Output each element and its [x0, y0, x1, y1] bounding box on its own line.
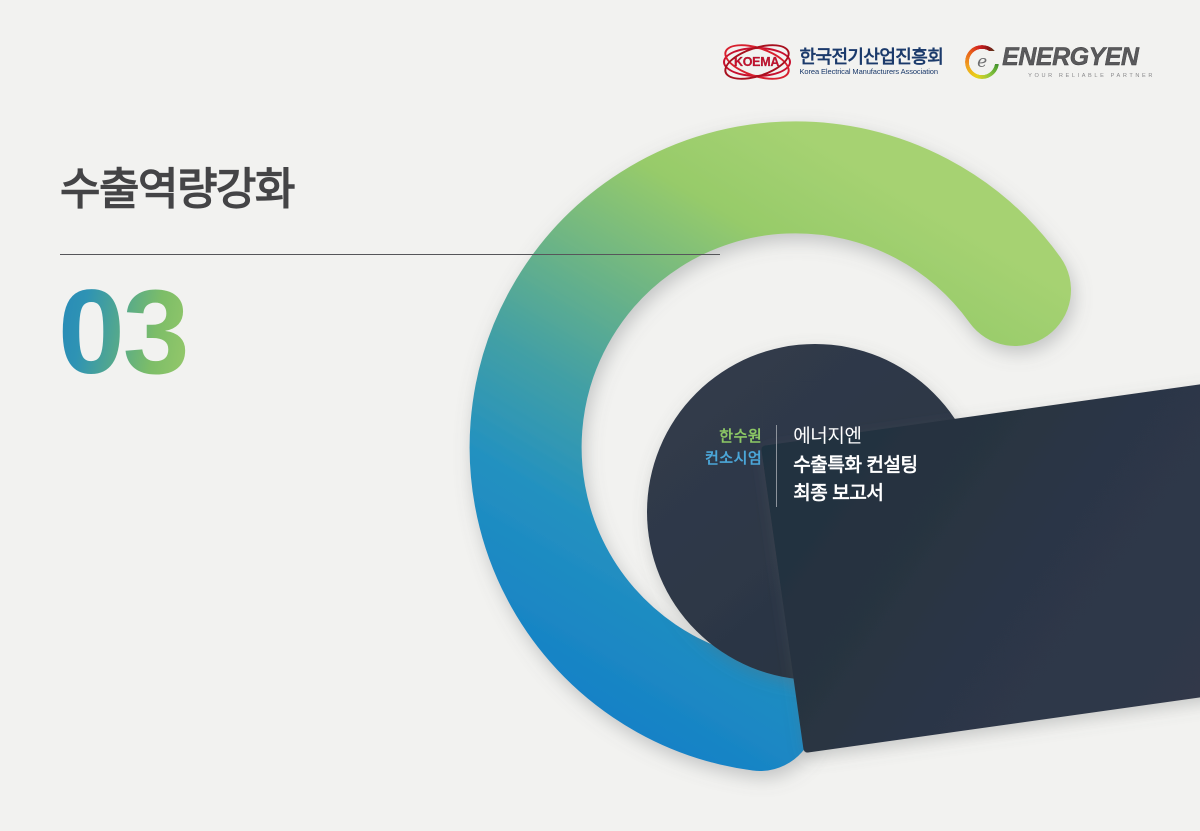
slide-root: KOEMA 한국전기산업진흥회 Korea Electrical Manufac… [0, 0, 1200, 831]
caption-org-block: 한수원 컨소시엄 [705, 425, 776, 469]
koema-logo: KOEMA 한국전기산업진흥회 Korea Electrical Manufac… [723, 47, 944, 77]
caption-report-line-2: 수출특화 컨설팅 [793, 454, 917, 479]
caption-report-line-1: 에너지엔 [793, 425, 917, 450]
energyen-wordmark: ENERGYEN [1002, 45, 1155, 70]
energyen-logo: e ENERGYEN YOUR RELIABLE PARTNER [965, 45, 1155, 79]
caption-org-line-2: 컨소시엄 [705, 450, 762, 469]
caption-report-line-3: 최종 보고서 [793, 482, 917, 507]
koema-korean-name: 한국전기산업진흥회 [800, 48, 944, 66]
koema-text-block: 한국전기산업진흥회 Korea Electrical Manufacturers… [800, 48, 944, 76]
energyen-mark-letter: e [965, 45, 999, 79]
section-heading-block: 수출역량강화 [60, 165, 720, 255]
koema-english-name: Korea Electrical Manufacturers Associati… [800, 68, 944, 76]
page-title: 수출역량강화 [60, 165, 720, 216]
caption-divider [776, 425, 777, 507]
energyen-text-block: ENERGYEN YOUR RELIABLE PARTNER [1002, 45, 1155, 79]
title-divider [60, 254, 720, 255]
energyen-circle-icon: e [965, 45, 999, 79]
koema-emblem-icon: KOEMA [723, 47, 791, 77]
decorative-graphic [0, 0, 1200, 831]
koema-mark-text: KOEMA [734, 55, 779, 69]
section-number: 03 [58, 272, 187, 392]
caption-report-block: 에너지엔 수출특화 컨설팅 최종 보고서 [793, 425, 917, 507]
energyen-tagline: YOUR RELIABLE PARTNER [1028, 73, 1155, 79]
cover-caption: 한수원 컨소시엄 에너지엔 수출특화 컨설팅 최종 보고서 [705, 425, 918, 507]
caption-org-line-1: 한수원 [705, 428, 762, 447]
logo-bar: KOEMA 한국전기산업진흥회 Korea Electrical Manufac… [723, 45, 1155, 79]
